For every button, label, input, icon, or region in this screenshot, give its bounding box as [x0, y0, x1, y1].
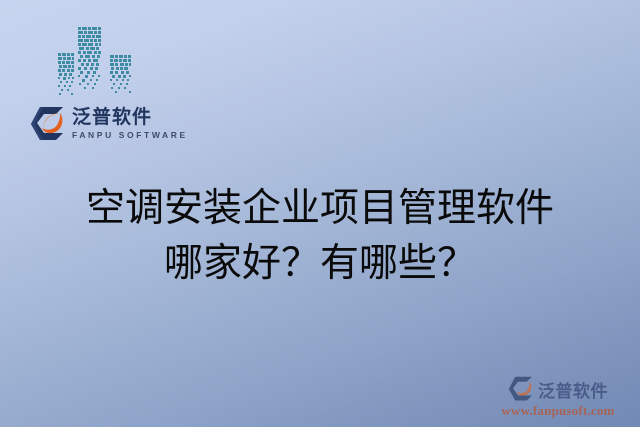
watermark-brand-row: 泛普软件 [484, 376, 632, 402]
headline-line-1: 空调安装企业项目管理软件 [0, 181, 640, 236]
watermark-url: www.fanpusoft.com [484, 403, 632, 419]
brand-name-en: FANPU SOFTWARE [72, 131, 188, 140]
headline-line-2: 哪家好？有哪些？ [0, 236, 640, 291]
brand-wordmark: 泛普软件 FANPU SOFTWARE [72, 108, 188, 140]
page-title: 空调安装企业项目管理软件 哪家好？有哪些？ [0, 181, 640, 291]
pixel-city-graphic [55, 24, 139, 102]
banner-image: 泛普软件 FANPU SOFTWARE 空调安装企业项目管理软件 哪家好？有哪些… [0, 0, 640, 427]
watermark-fanpu-hexagon-mark-icon [508, 376, 534, 402]
brand-name-cn: 泛普软件 [72, 108, 188, 127]
watermark: 泛普软件 www.fanpusoft.com [484, 376, 632, 419]
brand-logo: 泛普软件 FANPU SOFTWARE [30, 106, 188, 142]
watermark-brand-name: 泛普软件 [538, 377, 608, 402]
fanpu-hexagon-mark-icon [30, 106, 66, 142]
